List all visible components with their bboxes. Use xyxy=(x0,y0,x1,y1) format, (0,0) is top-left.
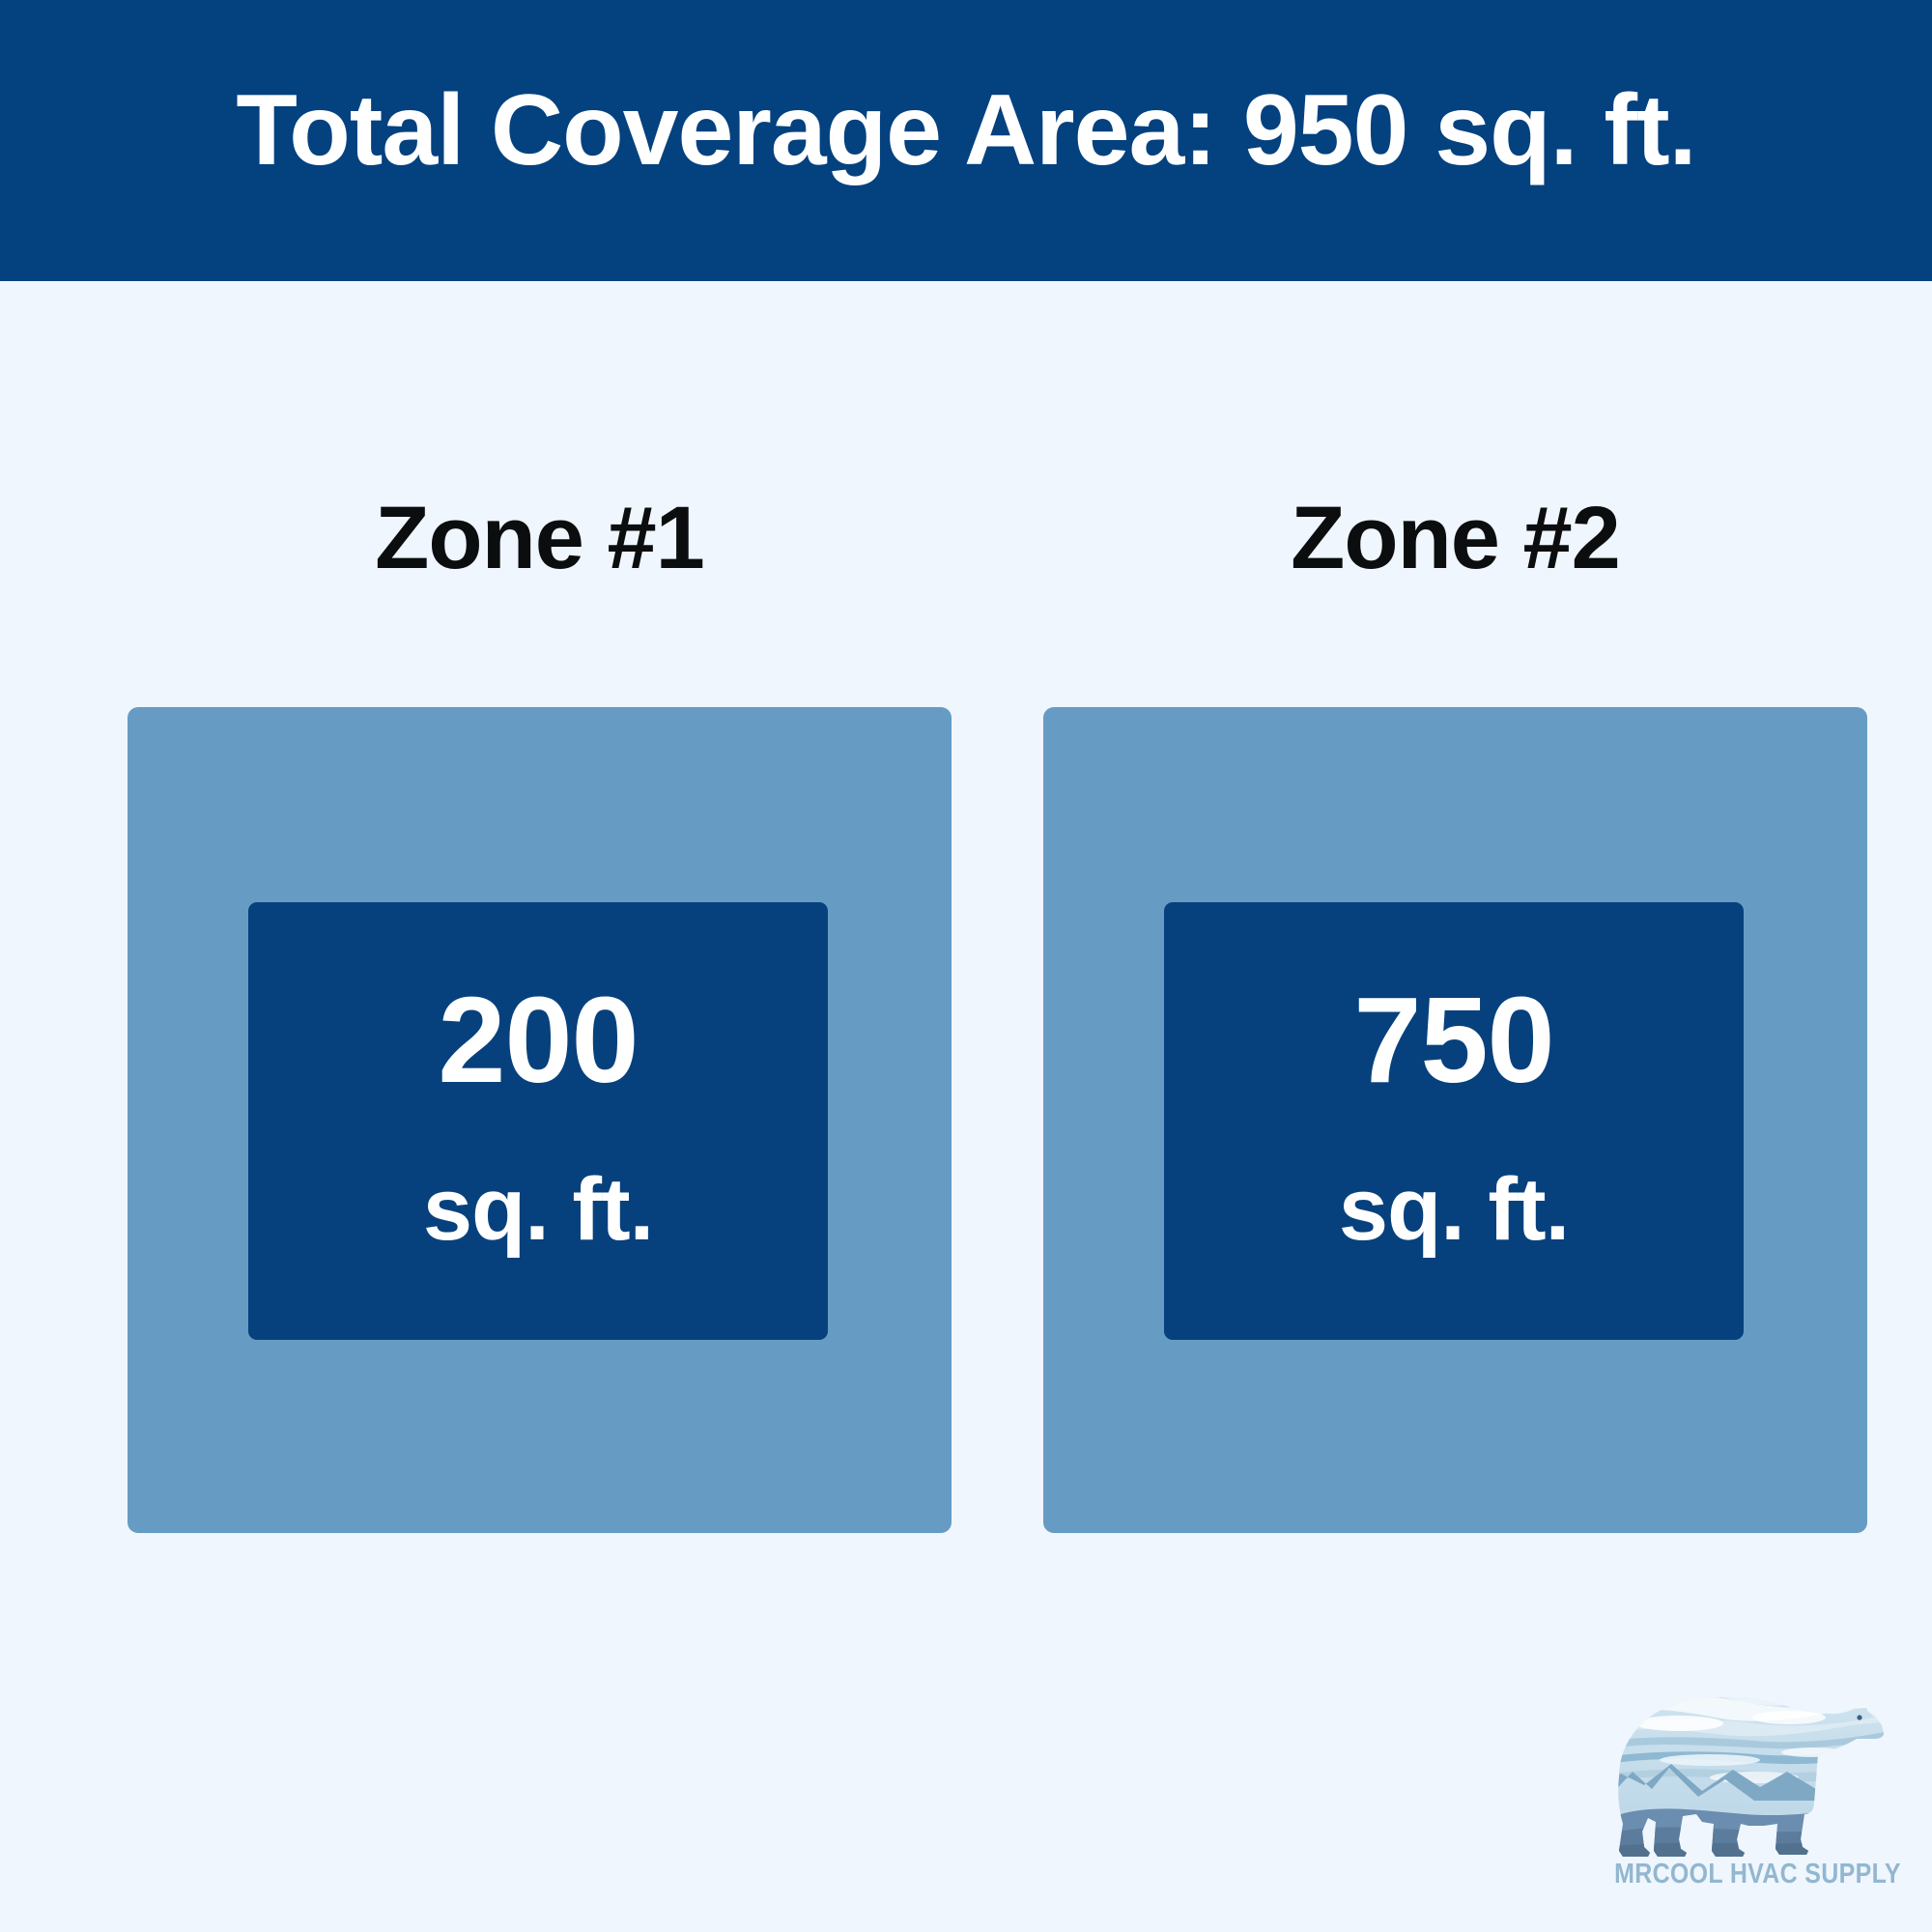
zone-2-label: Zone #2 xyxy=(1043,494,1867,582)
zone-1-label: Zone #1 xyxy=(128,494,952,582)
zone-2-value: 750 xyxy=(1353,980,1553,1101)
zones-container: Zone #1 200 sq. ft. Zone #2 750 sq. ft. xyxy=(0,281,1932,1932)
zone-1-outer-area: 200 sq. ft. xyxy=(128,707,952,1533)
brand-logo: MRCOOL HVAC SUPPLY xyxy=(1592,1689,1911,1911)
zone-1-unit: sq. ft. xyxy=(423,1165,653,1254)
zone-1-inner-area: 200 sq. ft. xyxy=(248,902,828,1340)
zone-2-inner-area: 750 sq. ft. xyxy=(1164,902,1744,1340)
header-banner: Total Coverage Area: 950 sq. ft. xyxy=(0,0,1932,281)
brand-logo-text: MRCOOL HVAC SUPPLY xyxy=(1614,1861,1889,1889)
page-title: Total Coverage Area: 950 sq. ft. xyxy=(236,80,1695,181)
zone-2-unit: sq. ft. xyxy=(1339,1165,1569,1254)
polar-bear-icon xyxy=(1609,1689,1889,1859)
zone-1-value: 200 xyxy=(438,980,638,1101)
zone-2-outer-area: 750 sq. ft. xyxy=(1043,707,1867,1533)
